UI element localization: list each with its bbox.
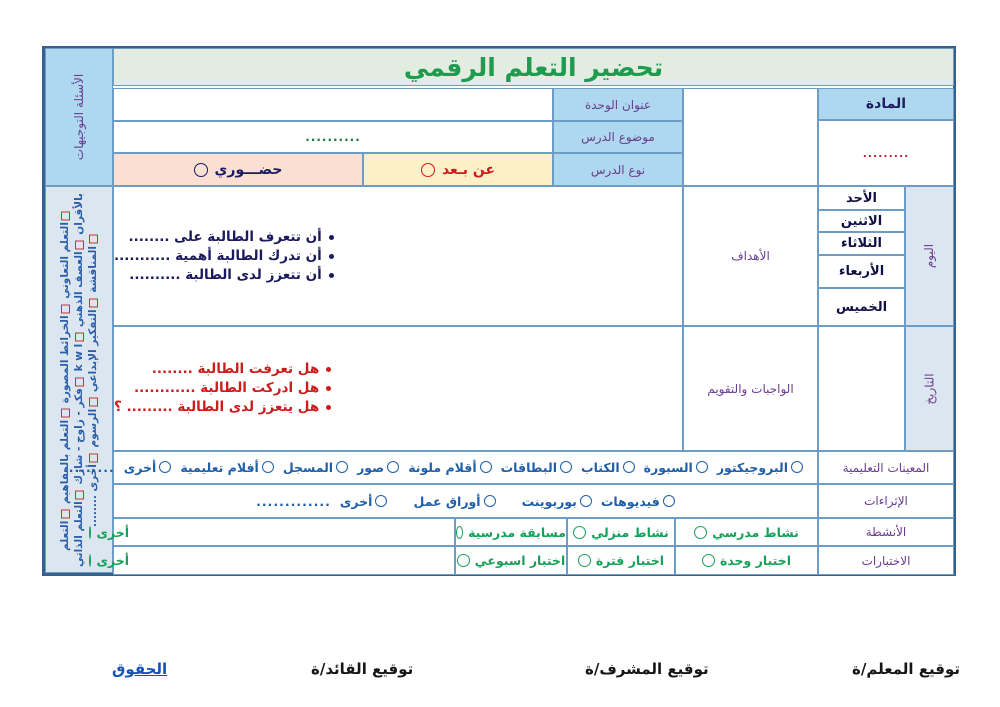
day-name: الأحد bbox=[846, 191, 877, 206]
assessment-content-cell[interactable]: هل تعرفت الطالبة ........ هل ادركت الطال… bbox=[113, 326, 683, 451]
lesson-type-onsite-cell[interactable]: حضـــوري bbox=[113, 153, 363, 186]
day-name: الاثنين bbox=[841, 214, 882, 229]
radio-icon[interactable] bbox=[694, 526, 707, 539]
checkbox-icon[interactable] bbox=[75, 332, 84, 341]
strategy-item: المناقشة bbox=[87, 245, 99, 292]
enrichment-option: بوربوينت bbox=[522, 494, 592, 509]
teaching-aids-tail: ......... bbox=[63, 460, 115, 475]
lesson-type-onsite-label: حضـــوري bbox=[215, 162, 283, 178]
teaching-aids-label-cell: المعينات التعليمية bbox=[818, 451, 954, 484]
radio-icon[interactable] bbox=[573, 526, 586, 539]
teaching-aid-option: البروجيكتور bbox=[717, 460, 803, 475]
tests-option-period[interactable]: اختبار فترة bbox=[567, 546, 675, 575]
tests-option-weekly[interactable]: اختبار اسبوعي bbox=[455, 546, 567, 575]
assessment-item: هل يتعزز لدى الطالبة ......... ؟ bbox=[114, 398, 319, 417]
teaching-strategies-text: التعلم التعاوني الخرائط المصورة التعلم ب… bbox=[58, 187, 100, 572]
enrichment-option: فيديوهات bbox=[601, 494, 675, 509]
enrichment-options-row[interactable]: فيديوهات بوربوينت أوراق عمل أخرى .......… bbox=[113, 484, 818, 518]
radio-icon[interactable] bbox=[663, 495, 675, 507]
objective-item: أن تدرك الطالبة أهمية ........... bbox=[114, 247, 322, 266]
assessment-label-cell: الواجبات والتقويم bbox=[683, 326, 818, 451]
lesson-type-remote-cell[interactable]: عن بـعد bbox=[363, 153, 553, 186]
radio-icon[interactable] bbox=[336, 461, 348, 473]
radio-icon[interactable] bbox=[580, 495, 592, 507]
supervisor-signature-label: توقيع المشرف/ة bbox=[585, 660, 709, 678]
checkbox-icon[interactable] bbox=[89, 298, 98, 307]
radio-icon[interactable] bbox=[375, 495, 387, 507]
tests-option-unit[interactable]: اختبار وحدة bbox=[675, 546, 818, 575]
radio-icon[interactable] bbox=[623, 461, 635, 473]
lesson-type-remote-radio[interactable] bbox=[421, 163, 435, 177]
day-vertical-label: اليوم bbox=[905, 186, 954, 326]
subject-header-cell: المادة bbox=[818, 88, 954, 120]
teaching-aids-options-row[interactable]: البروجيكتور السبورة الكتاب البطاقات أقلا… bbox=[113, 451, 818, 484]
strategy-item: التفكير الإبداعي bbox=[87, 309, 99, 392]
activities-option-school[interactable]: نشاط مدرسي bbox=[675, 518, 818, 546]
strategy-item: k w l bbox=[73, 343, 85, 371]
radio-icon[interactable] bbox=[480, 461, 492, 473]
guiding-questions-vertical-label: الأسئلة التوجيهات bbox=[45, 48, 113, 186]
leader-signature-label: توقيع القائد/ة bbox=[311, 660, 413, 678]
teaching-aid-option: صور bbox=[357, 460, 399, 475]
teaching-aid-option-label: البروجيكتور bbox=[717, 460, 788, 475]
radio-icon[interactable] bbox=[457, 554, 470, 567]
teaching-aid-option: الكتاب bbox=[581, 460, 635, 475]
objective-item: أن تتعزز لدى الطالبة .......... bbox=[114, 266, 322, 285]
tests-option-other[interactable]: أخرى bbox=[113, 546, 455, 575]
activities-label: الأنشطة bbox=[866, 525, 907, 539]
lesson-type-label: نوع الدرس bbox=[591, 163, 645, 177]
activities-option-label: نشاط مدرسي bbox=[712, 525, 799, 540]
activities-option-label: أخرى bbox=[96, 525, 129, 540]
teaching-aid-option-label: المسجل bbox=[283, 460, 333, 475]
checkbox-icon[interactable] bbox=[75, 240, 84, 249]
tests-label-cell: الاختبارات bbox=[818, 546, 954, 575]
rights-link[interactable]: الحقوق bbox=[112, 660, 167, 678]
lesson-type-label-cell: نوع الدرس bbox=[553, 153, 683, 186]
strategy-item: الخرائط المصورة bbox=[59, 315, 71, 403]
checkbox-icon[interactable] bbox=[61, 408, 70, 417]
teaching-strategies-sidebar: التعلم التعاوني الخرائط المصورة التعلم ب… bbox=[45, 186, 113, 573]
unit-title-label-cell: عنوان الوحدة bbox=[553, 88, 683, 121]
date-label-text: التاريخ bbox=[923, 373, 937, 404]
day-row-wednesday[interactable]: الأربعاء bbox=[818, 255, 905, 288]
activities-option-contest[interactable]: مسابقة مدرسية bbox=[455, 518, 567, 546]
strategy-item: العصف الذهني bbox=[73, 251, 85, 327]
page-title: تحضير التعلم الرقمي bbox=[404, 53, 663, 82]
unit-title-label: عنوان الوحدة bbox=[585, 98, 651, 112]
objectives-label-cell: الأهداف bbox=[683, 186, 818, 326]
day-name: الخميس bbox=[836, 300, 887, 315]
checkbox-icon[interactable] bbox=[61, 509, 70, 518]
activities-option-label: مسابقة مدرسية bbox=[468, 525, 566, 540]
header-spacer-cell bbox=[683, 88, 818, 186]
lesson-topic-label: موضوع الدرس bbox=[581, 130, 655, 144]
document-title-bar: تحضير التعلم الرقمي bbox=[113, 48, 954, 86]
radio-icon[interactable] bbox=[159, 461, 171, 473]
radio-icon[interactable] bbox=[702, 554, 715, 567]
strategy-item: التعلم التعاوني bbox=[59, 222, 71, 299]
teaching-aid-option-label: الكتاب bbox=[581, 460, 620, 475]
day-row-tuesday[interactable]: الثلاثاء bbox=[818, 232, 905, 255]
strategy-item: التعلم الذاتي bbox=[73, 501, 85, 567]
day-row-thursday[interactable]: الخميس bbox=[818, 288, 905, 326]
day-row-sunday[interactable]: الأحد bbox=[818, 186, 905, 210]
enrichment-option-label: فيديوهات bbox=[601, 494, 660, 509]
teaching-aid-option: السبورة bbox=[644, 460, 708, 475]
teaching-aids-label: المعينات التعليمية bbox=[843, 461, 930, 475]
teaching-aid-option-label: أقلام ملونة bbox=[408, 460, 476, 475]
checkbox-icon[interactable] bbox=[61, 211, 70, 220]
tests-option-label: أخرى bbox=[96, 553, 129, 568]
teaching-aid-option: المسجل bbox=[283, 460, 348, 475]
radio-icon[interactable] bbox=[696, 461, 708, 473]
tests-label: الاختبارات bbox=[862, 554, 911, 568]
teaching-aid-option-label: السبورة bbox=[644, 460, 693, 475]
teaching-aid-option: أخرى bbox=[124, 460, 172, 475]
assessment-label: الواجبات والتقويم bbox=[707, 382, 793, 396]
activities-option-home[interactable]: نشاط منزلي bbox=[567, 518, 675, 546]
enrichment-option-label: أخرى bbox=[340, 494, 373, 509]
assessment-item: هل تعرفت الطالبة ........ bbox=[114, 360, 319, 379]
enrichment-option-label: بوربوينت bbox=[522, 494, 577, 509]
strategy-item: الرسوم bbox=[87, 408, 99, 447]
checkbox-icon[interactable] bbox=[89, 234, 98, 243]
radio-icon[interactable] bbox=[560, 461, 572, 473]
guiding-questions-label-text: الأسئلة التوجيهات bbox=[72, 74, 86, 160]
radio-icon[interactable] bbox=[262, 461, 274, 473]
enrichment-option: أوراق عمل bbox=[413, 494, 495, 509]
teaching-aid-option: البطاقات bbox=[501, 460, 572, 475]
enrichment-label: الإثراءات bbox=[864, 494, 908, 508]
lesson-type-onsite-radio[interactable] bbox=[194, 163, 208, 177]
document-page: تحضير التعلم الرقمي الأسئلة التوجيهات ال… bbox=[0, 0, 1000, 707]
checkbox-icon[interactable] bbox=[89, 397, 98, 406]
date-vertical-label: التاريخ bbox=[905, 326, 954, 451]
date-value-cell[interactable] bbox=[818, 326, 905, 451]
teaching-aid-option-label: أخرى bbox=[124, 460, 157, 475]
objective-item: أن تتعرف الطالبة على ........ bbox=[114, 228, 322, 247]
checkbox-icon[interactable] bbox=[61, 304, 70, 313]
lesson-topic-value-cell[interactable]: .......... bbox=[113, 121, 553, 153]
radio-icon[interactable] bbox=[791, 461, 803, 473]
radio-icon[interactable] bbox=[484, 495, 496, 507]
subject-value-cell[interactable]: ......... bbox=[818, 120, 954, 186]
radio-icon[interactable] bbox=[456, 526, 463, 539]
teacher-signature-label: توقيع المعلم/ة bbox=[852, 660, 960, 678]
teaching-aid-option: أقلام ملونة bbox=[408, 460, 491, 475]
subject-value: ......... bbox=[863, 147, 910, 160]
tests-option-label: اختبار فترة bbox=[596, 553, 664, 568]
activities-label-cell: الأنشطة bbox=[818, 518, 954, 546]
teaching-aid-option-label: صور bbox=[357, 460, 384, 475]
teaching-aid-option-label: البطاقات bbox=[501, 460, 557, 475]
teaching-aid-option-label: أفلام تعليمية bbox=[180, 460, 259, 475]
unit-title-value-cell[interactable] bbox=[113, 88, 553, 121]
assessment-item: هل ادركت الطالبة ............ bbox=[114, 379, 319, 398]
subject-label: المادة bbox=[866, 96, 906, 112]
enrichment-tail: ............. bbox=[256, 494, 331, 509]
day-name: الثلاثاء bbox=[841, 236, 882, 251]
radio-icon[interactable] bbox=[578, 554, 591, 567]
activities-option-other[interactable]: أخرى bbox=[113, 518, 455, 546]
enrichment-label-cell: الإثراءات bbox=[818, 484, 954, 518]
lesson-topic-value: .......... bbox=[305, 130, 361, 144]
day-name: الأربعاء bbox=[839, 264, 884, 279]
objectives-label: الأهداف bbox=[731, 249, 770, 263]
activities-option-label: نشاط منزلي bbox=[591, 525, 668, 540]
tests-option-label: اختبار وحدة bbox=[720, 553, 791, 568]
lesson-topic-label-cell: موضوع الدرس bbox=[553, 121, 683, 153]
checkbox-icon[interactable] bbox=[75, 377, 84, 386]
enrichment-option: أخرى bbox=[340, 494, 388, 509]
enrichment-option-label: أوراق عمل bbox=[413, 494, 480, 509]
lesson-type-remote-label: عن بـعد bbox=[442, 162, 495, 178]
radio-icon[interactable] bbox=[387, 461, 399, 473]
objectives-content-cell[interactable]: أن تتعرف الطالبة على ........ أن تدرك ال… bbox=[113, 186, 683, 326]
tests-option-label: اختبار اسبوعي bbox=[475, 553, 565, 568]
day-row-monday[interactable]: الاثنين bbox=[818, 210, 905, 232]
day-label-text: اليوم bbox=[923, 244, 937, 268]
checkbox-icon[interactable] bbox=[75, 490, 84, 499]
teaching-aid-option: أفلام تعليمية bbox=[180, 460, 274, 475]
